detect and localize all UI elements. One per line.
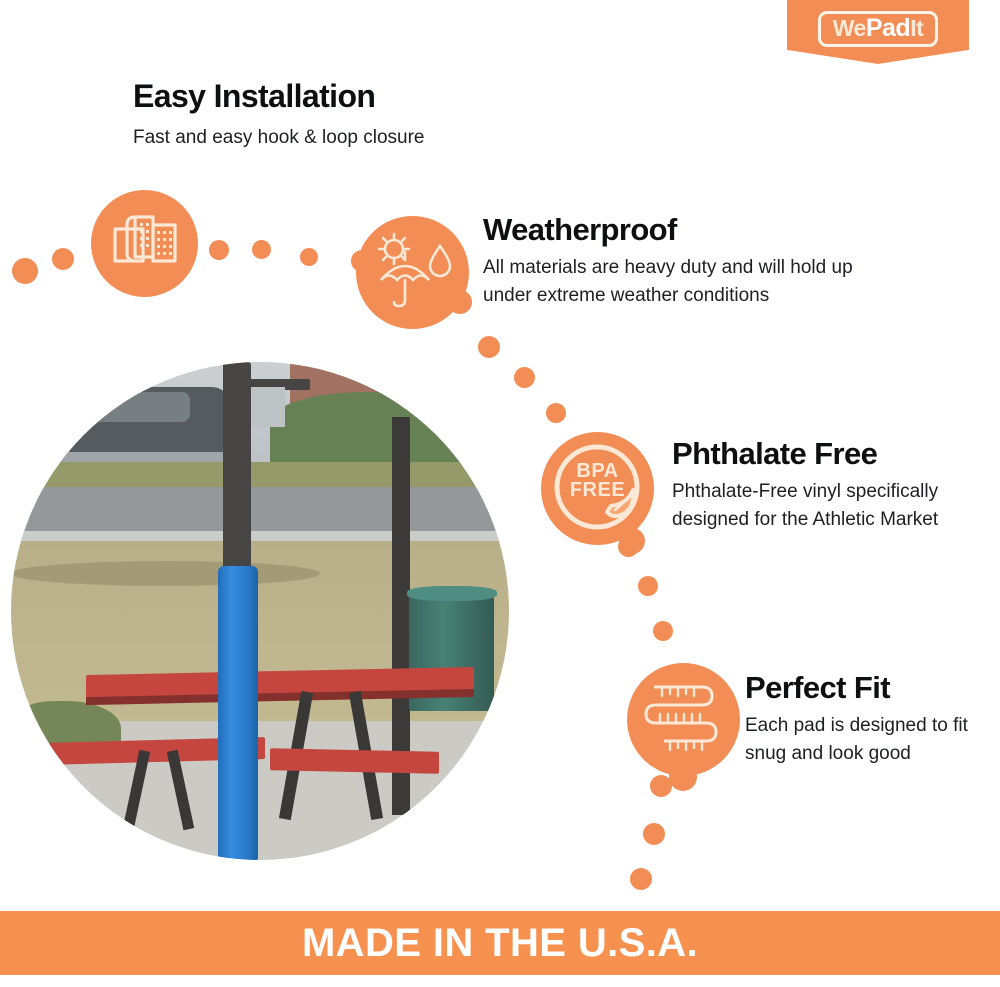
infographic-canvas: We Pad It Easy Installation Fast and eas… [0, 0, 1000, 987]
feature-icon-perfect-fit [627, 663, 740, 776]
feature-icon-phthalate-free: BPA FREE [541, 432, 654, 545]
trail-dot [653, 621, 673, 641]
trail-dot [12, 258, 38, 284]
icon-lobe [669, 763, 697, 791]
trail-dot [638, 576, 658, 596]
made-in-usa-text: MADE IN THE U.S.A. [302, 921, 698, 966]
trail-dot [300, 248, 318, 266]
bpa-free-icon-line2: FREE [570, 479, 625, 501]
feature-description-perfect-fit: Each pad is designed to fit snug and loo… [745, 712, 985, 767]
photo-overlay [11, 362, 509, 860]
feature-description-weatherproof: All materials are heavy duty and will ho… [483, 254, 903, 309]
icon-lobe [351, 250, 373, 272]
trail-dot [252, 240, 271, 259]
brand-logo-plate: We Pad It [818, 11, 939, 47]
measuring-tape-icon [642, 677, 726, 762]
trail-dot [478, 336, 500, 358]
sun-umbrella-raindrop-icon [372, 232, 454, 313]
feature-title-weatherproof: Weatherproof [483, 212, 903, 248]
trail-dot [52, 248, 74, 270]
icon-lobe [448, 290, 472, 314]
feature-title-easy-installation: Easy Installation [133, 78, 425, 115]
brand-logo-banner[interactable]: We Pad It [787, 0, 969, 64]
made-in-usa-banner: MADE IN THE U.S.A. [0, 911, 1000, 975]
logo-text-it: It [910, 17, 923, 40]
trail-dot [630, 868, 652, 890]
feature-title-phthalate-free: Phthalate Free [672, 436, 972, 472]
trail-dot [618, 536, 639, 557]
logo-text-we: We [833, 17, 866, 40]
feature-description-easy-installation: Fast and easy hook & loop closure [133, 124, 425, 152]
trail-dot [643, 823, 665, 845]
feature-description-phthalate-free: Phthalate-Free vinyl specifically design… [672, 478, 972, 533]
feature-icon-easy-installation [91, 190, 198, 297]
trail-dot [546, 403, 566, 423]
feature-block-perfect-fit: Perfect Fit Each pad is designed to fit … [745, 670, 985, 767]
feature-block-weatherproof: Weatherproof All materials are heavy dut… [483, 212, 903, 309]
trail-dot [650, 775, 672, 797]
bpa-free-icon-label: BPA FREE [541, 462, 654, 500]
logo-text-pad: Pad [866, 16, 910, 41]
trail-dot [209, 240, 229, 260]
feature-block-phthalate-free: Phthalate Free Phthalate-Free vinyl spec… [672, 436, 972, 533]
bpa-free-leaf-icon: BPA FREE [541, 432, 654, 545]
product-photo [11, 362, 509, 860]
trail-dot [514, 367, 535, 388]
feature-block-easy-installation: Easy Installation Fast and easy hook & l… [133, 78, 425, 152]
hook-and-loop-icon [111, 211, 179, 276]
feature-icon-weatherproof [356, 216, 469, 329]
feature-title-perfect-fit: Perfect Fit [745, 670, 985, 706]
